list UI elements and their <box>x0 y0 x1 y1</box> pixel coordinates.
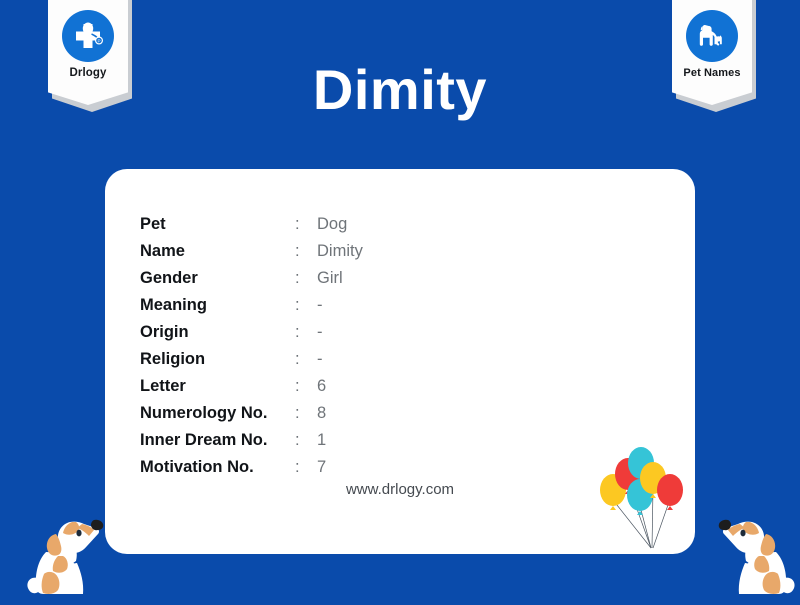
row-label: Inner Dream No. <box>140 427 295 454</box>
svg-text:P: P <box>97 38 100 43</box>
sitting-dog-illustration-right <box>700 500 800 600</box>
row-value: - <box>317 292 363 319</box>
pet-info-table: Pet : Dog Name : Dimity Gender : Girl Me… <box>140 211 363 481</box>
row-separator: : <box>295 427 317 454</box>
table-row: Gender : Girl <box>140 265 363 292</box>
pet-info-card: Pet : Dog Name : Dimity Gender : Girl Me… <box>105 169 695 554</box>
badge-body: P Drlogy <box>48 0 128 105</box>
table-row: Inner Dream No. : 1 <box>140 427 363 454</box>
row-value: 6 <box>317 373 363 400</box>
row-label: Pet <box>140 211 295 238</box>
table-row: Pet : Dog <box>140 211 363 238</box>
row-separator: : <box>295 346 317 373</box>
badge-label: Drlogy <box>69 67 106 79</box>
row-label: Numerology No. <box>140 400 295 427</box>
row-value: - <box>317 346 363 373</box>
row-label: Religion <box>140 346 295 373</box>
row-label: Meaning <box>140 292 295 319</box>
badge-body: Pet Names <box>672 0 752 105</box>
row-label: Name <box>140 238 295 265</box>
table-row: Numerology No. : 8 <box>140 400 363 427</box>
row-value: 8 <box>317 400 363 427</box>
table-row: Meaning : - <box>140 292 363 319</box>
row-separator: : <box>295 292 317 319</box>
row-separator: : <box>295 211 317 238</box>
table-row: Religion : - <box>140 346 363 373</box>
row-separator: : <box>295 373 317 400</box>
row-value: Girl <box>317 265 363 292</box>
row-separator: : <box>295 319 317 346</box>
row-label: Letter <box>140 373 295 400</box>
row-separator: : <box>295 400 317 427</box>
row-label: Motivation No. <box>140 454 295 481</box>
row-value: 1 <box>317 427 363 454</box>
row-value: 7 <box>317 454 363 481</box>
row-label: Origin <box>140 319 295 346</box>
balloons-illustration <box>595 444 691 554</box>
row-value: Dog <box>317 211 363 238</box>
row-separator: : <box>295 265 317 292</box>
badge-label: Pet Names <box>683 67 740 79</box>
table-row: Motivation No. : 7 <box>140 454 363 481</box>
row-value: Dimity <box>317 238 363 265</box>
dog-and-cat-icon <box>686 10 738 62</box>
row-label: Gender <box>140 265 295 292</box>
website-url[interactable]: www.drlogy.com <box>105 481 695 498</box>
table-row: Origin : - <box>140 319 363 346</box>
drlogy-medical-cross-icon: P <box>62 10 114 62</box>
row-separator: : <box>295 238 317 265</box>
table-row: Letter : 6 <box>140 373 363 400</box>
row-separator: : <box>295 454 317 481</box>
row-value: - <box>317 319 363 346</box>
table-row: Name : Dimity <box>140 238 363 265</box>
